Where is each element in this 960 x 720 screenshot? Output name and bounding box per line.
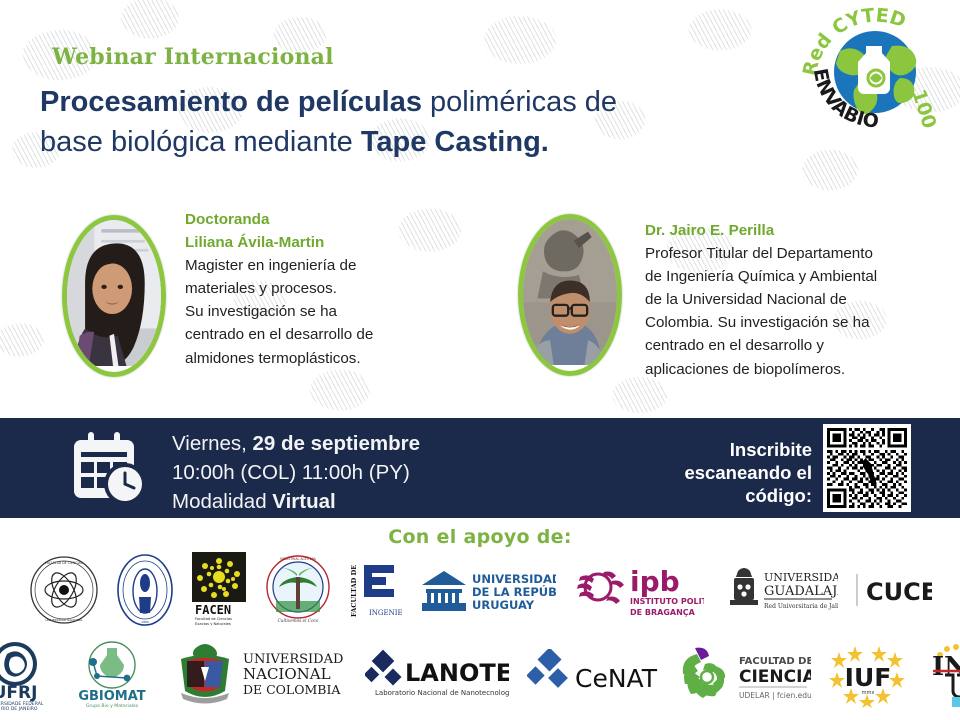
registration-line-2: escaneando el xyxy=(660,461,812,484)
bio-line: Colombia. Su investigación se ha xyxy=(645,311,955,334)
svg-text:CUCEI: CUCEI xyxy=(866,578,932,606)
industrial-aceitera-sac-logo: INDUSTRIAL ACEITERA Cultivemos el Coco xyxy=(264,553,332,627)
title-regular-2: base biológica mediante xyxy=(40,126,353,158)
svg-text:URUGUAY: URUGUAY xyxy=(472,598,535,612)
event-time: 10:00h (COL) 11:00h (PY) xyxy=(172,459,420,488)
ipb-instituto-politecnico-braganca-logo: ipb INSTITUTO POLITÉCNICO DE BRAGANÇA xyxy=(572,559,704,621)
svg-text:INSTITUTO POLITÉCNICO: INSTITUTO POLITÉCNICO xyxy=(630,595,704,606)
iuf-logo: IUF mmx xyxy=(829,642,907,708)
title-regular-1: poliméricas de xyxy=(430,86,617,118)
bio-line: aplicaciones de biopolímeros. xyxy=(645,358,955,381)
svg-text:Grupo Bio y Materiales: Grupo Bio y Materiales xyxy=(86,703,139,709)
svg-text:FACULTAD DE: FACULTAD DE xyxy=(739,656,811,667)
universidad-nacional-asuncion-seal-logo: 1889 xyxy=(116,553,174,627)
svg-text:UFRJ: UFRJ xyxy=(0,683,37,703)
svg-text:INGENIERÍA: INGENIERÍA xyxy=(369,608,402,617)
speaker-name-jairo: Dr. Jairo E. Perilla xyxy=(645,219,955,242)
facen-logo: FACEN Facultad de Ciencias Exactas y Nat… xyxy=(190,552,248,628)
svg-text:DE LA REPÚBLICA: DE LA REPÚBLICA xyxy=(472,584,556,599)
cucei-logo: CUCEI xyxy=(854,570,932,610)
svg-text:UNIVERSIDAD DE: UNIVERSIDAD DE xyxy=(764,571,838,584)
facultad-ciencias-quimicas-una-logo: FACULTAD DE CIENCIAS UNIVERSIDAD NACIONA… xyxy=(28,554,100,626)
svg-text:LANOTEC: LANOTEC xyxy=(405,659,509,687)
bio-line: centrado en el desarrollo y xyxy=(645,334,955,357)
cenat-logo: CeNAT xyxy=(527,649,659,701)
event-mode-prefix: Modalidad xyxy=(172,490,272,513)
page-kicker: Webinar Internacional xyxy=(52,44,334,70)
registration-line-3: código: xyxy=(660,484,812,507)
red-cyted-envabio100-logo: Red CYTED ENVABIO 100 xyxy=(800,6,950,138)
svg-text:FACULTAD DE CIENCIAS: FACULTAD DE CIENCIAS xyxy=(45,561,82,565)
event-mode: Virtual xyxy=(272,490,335,513)
svg-text:mmx: mmx xyxy=(862,690,875,696)
svg-text:DO RIO DE JANEIRO: DO RIO DE JANEIRO xyxy=(0,706,38,712)
universidad-de-guadalajara-logo: UNIVERSIDAD DE GUADALAJARA Red Universit… xyxy=(720,561,838,619)
svg-text:Red Universitaria de Jalisco: Red Universitaria de Jalisco xyxy=(764,603,838,610)
svg-text:DE COLOMBIA: DE COLOMBIA xyxy=(243,682,341,697)
bio-line: Profesor Titular del Departamento xyxy=(645,242,955,265)
event-details: Viernes, 29 de septiembre 10:00h (COL) 1… xyxy=(172,430,420,517)
svg-text:Exactas y Naturales: Exactas y Naturales xyxy=(195,622,231,626)
speaker-bio-liliana-avila-martin: Doctoranda Liliana Ávila-Martin Magister… xyxy=(185,208,485,370)
registration-instruction: Inscribite escaneando el código: xyxy=(660,438,812,507)
svg-text:DE BRAGANÇA: DE BRAGANÇA xyxy=(630,608,696,617)
sponsor-logo-row-2: UFRJ UNIVERSIDADE FEDERAL DO RIO DE JANE… xyxy=(0,635,960,715)
sponsor-logo-row-1: FACULTAD DE CIENCIAS UNIVERSIDAD NACIONA… xyxy=(0,551,960,629)
svg-text:UNIVERSIDAD: UNIVERSIDAD xyxy=(472,572,556,586)
speaker-name-liliana: Liliana Ávila-Martin xyxy=(185,231,485,254)
event-date-prefix: Viernes, xyxy=(172,432,253,455)
sponsors-heading: Con el apoyo de: xyxy=(0,526,960,548)
event-date: 29 de septiembre xyxy=(253,432,421,455)
svg-text:Cultivemos el Coco: Cultivemos el Coco xyxy=(278,618,319,623)
bio-line: centrado en el desarrollo de xyxy=(185,323,485,346)
svg-text:IUF: IUF xyxy=(845,663,892,692)
svg-text:ipb: ipb xyxy=(630,565,680,598)
facultad-de-ciencias-udelar-logo: FACULTAD DE CIENCIAS UDELAR | fcien.edu.… xyxy=(677,644,811,706)
calendar-clock-icon xyxy=(68,430,150,508)
ufrj-logo: UFRJ UNIVERSIDADE FEDERAL DO RIO DE JANE… xyxy=(0,638,57,712)
universidad-de-la-republica-uruguay-logo: UNIVERSIDAD DE LA REPÚBLICA URUGUAY xyxy=(418,559,556,621)
speaker-role-liliana: Doctoranda xyxy=(185,208,485,231)
svg-text:CIENCIAS: CIENCIAS xyxy=(739,667,811,687)
title-bold-2: Tape Casting. xyxy=(361,126,549,158)
speaker-photo-jairo-e-perilla xyxy=(518,214,622,376)
svg-text:UNIVERSIDAD NACIONAL: UNIVERSIDAD NACIONAL xyxy=(45,618,83,622)
svg-text:GBIOMAT: GBIOMAT xyxy=(78,689,145,704)
universidad-nacional-de-itapua-logo: INI xyxy=(925,641,960,709)
webinar-poster: Webinar Internacional Procesamiento de p… xyxy=(0,0,960,720)
bio-line: de Ingeniería Química y Ambiental xyxy=(645,265,955,288)
svg-text:100: 100 xyxy=(907,87,940,132)
svg-text:INI: INI xyxy=(932,652,960,682)
svg-text:GUADALAJARA: GUADALAJARA xyxy=(764,584,838,599)
speaker-bio-jairo-e-perilla: Dr. Jairo E. Perilla Profesor Titular de… xyxy=(645,219,955,381)
svg-text:Facultad de Ciencias: Facultad de Ciencias xyxy=(195,617,232,621)
svg-text:INDUSTRIAL ACEITERA: INDUSTRIAL ACEITERA xyxy=(280,557,317,561)
title-bold-1: Procesamiento de películas xyxy=(40,86,422,118)
bio-line: Magister en ingeniería de xyxy=(185,254,485,277)
lanotec-logo: LANOTEC Laboratorio Nacional de Nanotecn… xyxy=(365,647,509,703)
gbiomat-logo: GBIOMAT Grupo Bio y Materiales xyxy=(75,638,149,712)
bio-line: de la Universidad Nacional de xyxy=(645,288,955,311)
svg-text:NACIONAL: NACIONAL xyxy=(243,665,331,683)
svg-text:FACULTAD DE: FACULTAD DE xyxy=(350,565,358,617)
bio-line: materiales y procesos. xyxy=(185,277,485,300)
svg-text:CeNAT: CeNAT xyxy=(575,664,658,693)
bio-line: almidones termoplásticos. xyxy=(185,347,485,370)
svg-text:FACEN: FACEN xyxy=(195,603,231,617)
svg-text:UDELAR | fcien.edu.uy: UDELAR | fcien.edu.uy xyxy=(739,691,811,700)
speaker-photo-liliana-avila-martin xyxy=(62,215,166,377)
registration-line-1: Inscribite xyxy=(660,438,812,461)
svg-text:Laboratorio Nacional de Nanote: Laboratorio Nacional de Nanotecnología xyxy=(375,689,509,697)
page-title: Procesamiento de películas poliméricas d… xyxy=(40,82,810,162)
registration-qr-code[interactable] xyxy=(823,424,911,512)
bio-line: Su investigación se ha xyxy=(185,300,485,323)
facultad-de-ingenieria-logo: FACULTAD DE INGENIERÍA xyxy=(348,555,402,625)
svg-text:1889: 1889 xyxy=(141,620,149,624)
universidad-nacional-de-colombia-logo: UNIVERSIDAD NACIONAL DE COLOMBIA xyxy=(167,639,347,711)
